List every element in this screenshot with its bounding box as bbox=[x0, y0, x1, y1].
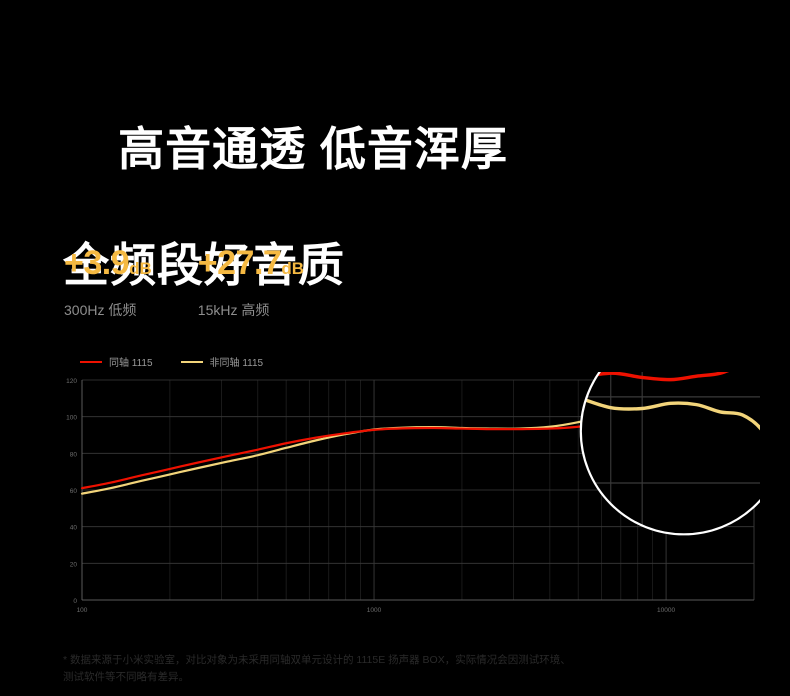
svg-text:60: 60 bbox=[70, 488, 78, 495]
svg-text:40: 40 bbox=[70, 525, 78, 532]
stat-low-unit: dB bbox=[129, 259, 152, 278]
headline-line-1: 高音通透 低音浑厚 bbox=[118, 123, 508, 175]
svg-text:100: 100 bbox=[77, 607, 88, 614]
legend-swatch-non-coaxial bbox=[181, 361, 203, 363]
legend-item-coaxial: 同轴 1115 bbox=[80, 354, 153, 369]
stat-high-value-wrap: +27.7dB bbox=[198, 243, 304, 289]
svg-text:100: 100 bbox=[66, 415, 77, 422]
svg-text:80: 80 bbox=[70, 451, 78, 458]
legend-item-non-coaxial: 非同轴 1115 bbox=[181, 354, 264, 369]
legend-swatch-coaxial bbox=[80, 361, 102, 363]
svg-text:1000: 1000 bbox=[367, 607, 382, 614]
stat-high-caption: 15kHz 高频 bbox=[198, 300, 304, 320]
svg-text:120: 120 bbox=[66, 378, 77, 385]
footnote-line-1: * 数据来源于小米实验室，对比对象为未采用同轴双单元设计的 1115E 扬声器 … bbox=[63, 652, 723, 669]
stat-high-frequency: +27.7dB 15kHz 高频 bbox=[198, 243, 304, 320]
magnifier-content bbox=[60, 372, 760, 622]
promo-page: 高音通透 低音浑厚 全频段好音质 +3.9dB 300Hz 低频 +27.7dB… bbox=[0, 0, 790, 696]
stats-group: +3.9dB 300Hz 低频 +27.7dB 15kHz 高频 bbox=[64, 243, 304, 320]
svg-text:0: 0 bbox=[73, 598, 77, 605]
stat-high-value: +27.7 bbox=[198, 244, 282, 282]
stat-low-frequency: +3.9dB 300Hz 低频 bbox=[64, 243, 152, 320]
stat-low-caption: 300Hz 低频 bbox=[64, 300, 152, 320]
stat-low-value: +3.9 bbox=[64, 244, 129, 282]
svg-text:20: 20 bbox=[70, 561, 78, 568]
stat-high-unit: dB bbox=[281, 259, 304, 278]
chart-svg: 020406080100120100100010000 bbox=[60, 372, 760, 622]
legend-label-coaxial: 同轴 1115 bbox=[109, 354, 153, 369]
chart-legend: 同轴 1115 非同轴 1115 bbox=[80, 354, 263, 369]
chart-xaxis-labels: 100100010000 bbox=[77, 607, 676, 614]
legend-label-non-coaxial: 非同轴 1115 bbox=[210, 354, 264, 369]
frequency-response-chart: 020406080100120100100010000 bbox=[60, 372, 760, 622]
footnote-line-2: 测试软件等不同略有差异。 bbox=[63, 669, 723, 686]
svg-text:10000: 10000 bbox=[657, 607, 675, 614]
footnote: * 数据来源于小米实验室，对比对象为未采用同轴双单元设计的 1115E 扬声器 … bbox=[63, 652, 723, 686]
stat-low-value-wrap: +3.9dB bbox=[64, 243, 152, 289]
